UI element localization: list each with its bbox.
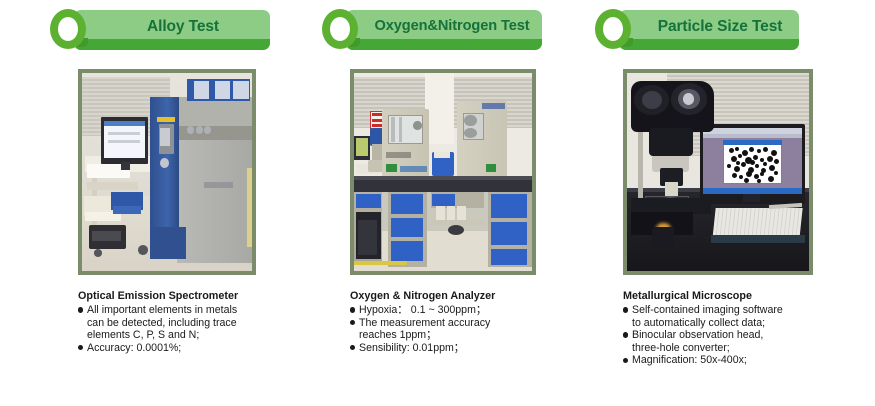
magnifier-icon: [320, 8, 366, 54]
list-item: The measurement accuracy reaches 1ppm；: [350, 317, 580, 342]
list-item-line: three-hole converter;: [632, 342, 853, 355]
list-item: Hypoxia： 0.1 ~ 300ppm；: [350, 304, 580, 317]
optical-emission-spectrometer-photo: [78, 69, 256, 275]
list-item-line: The measurement accuracy: [359, 317, 580, 330]
caption-list: Self-contained imaging software to autom…: [623, 304, 853, 367]
list-item-line: Accuracy: 0.0001%;: [87, 342, 308, 355]
list-item-line: to automatically collect data;: [632, 317, 853, 330]
bullet-icon: [623, 358, 628, 363]
list-item: Accuracy: 0.0001%;: [78, 342, 308, 355]
caption-block-particle-size-test: Metallurgical Microscope Self-contained …: [623, 290, 853, 367]
list-item-line: Sensibility: 0.01ppm；: [359, 342, 580, 355]
list-item-line: Self-contained imaging software: [632, 304, 853, 317]
capability-column-particle-size-test: Particle Size Test: [585, 0, 853, 406]
badge-label: Oxygen&Nitrogen Test: [366, 10, 538, 43]
bullet-icon: [350, 307, 355, 312]
magnifier-icon: [593, 8, 639, 54]
list-item: Sensibility: 0.01ppm；: [350, 342, 580, 355]
list-item: Binocular observation head, three-hole c…: [623, 329, 853, 354]
list-item: Magnification: 50x-400x;: [623, 354, 853, 367]
bullet-icon: [78, 345, 83, 350]
caption-title: Optical Emission Spectrometer: [78, 290, 308, 303]
magnifier-icon: [48, 8, 94, 54]
badge-label: Alloy Test: [100, 10, 266, 43]
oxygen-nitrogen-analyzer-photo: [350, 69, 536, 275]
badge-oxygen-nitrogen-test[interactable]: Oxygen&Nitrogen Test: [320, 8, 542, 52]
metallurgical-microscope-photo: [623, 69, 813, 275]
caption-block-oxygen-nitrogen-test: Oxygen & Nitrogen Analyzer Hypoxia： 0.1 …: [350, 290, 580, 354]
list-item-line: Magnification: 50x-400x;: [632, 354, 853, 367]
capability-column-oxygen-nitrogen-test: Oxygen&Nitrogen Test: [312, 0, 580, 406]
lab-capability-board: Alloy Test: [0, 0, 875, 406]
badge-particle-size-test[interactable]: Particle Size Test: [593, 8, 799, 52]
list-item-line: elements C, P, S and N;: [87, 329, 308, 342]
list-item-line: All important elements in metals: [87, 304, 308, 317]
list-item-line: Hypoxia： 0.1 ~ 300ppm；: [359, 304, 580, 317]
list-item-line: reaches 1ppm；: [359, 329, 580, 342]
caption-title: Oxygen & Nitrogen Analyzer: [350, 290, 580, 303]
caption-title: Metallurgical Microscope: [623, 290, 853, 303]
bullet-icon: [623, 332, 628, 337]
list-item-line: can be detected, including trace: [87, 317, 308, 330]
badge-alloy-test[interactable]: Alloy Test: [48, 8, 270, 52]
caption-list: All important elements in metals can be …: [78, 304, 308, 354]
bullet-icon: [623, 307, 628, 312]
bullet-icon: [350, 345, 355, 350]
bullet-icon: [350, 320, 355, 325]
capability-column-alloy-test: Alloy Test: [40, 0, 308, 406]
bullet-icon: [78, 307, 83, 312]
particle-analysis-view: [725, 144, 780, 182]
list-item: All important elements in metals can be …: [78, 304, 308, 342]
badge-label: Particle Size Test: [645, 10, 795, 43]
list-item-line: Binocular observation head,: [632, 329, 853, 342]
caption-list: Hypoxia： 0.1 ~ 300ppm； The measurement a…: [350, 304, 580, 354]
caption-block-alloy-test: Optical Emission Spectrometer All import…: [78, 290, 308, 354]
list-item: Self-contained imaging software to autom…: [623, 304, 853, 329]
